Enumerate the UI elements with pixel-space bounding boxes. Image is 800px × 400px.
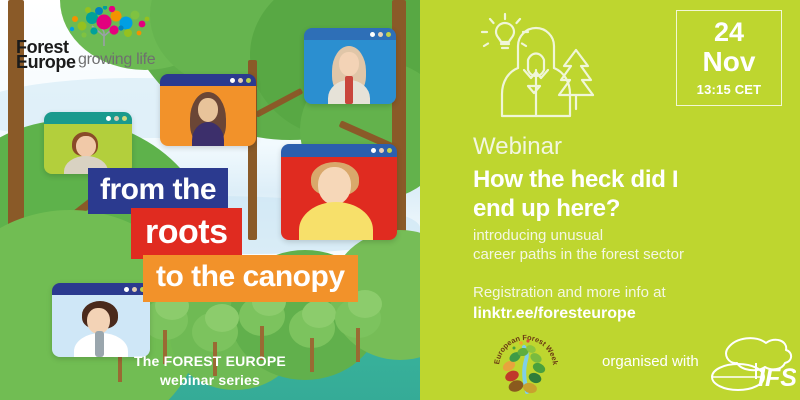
window-title-bar: [281, 144, 397, 157]
headline-text-2: roots: [131, 208, 242, 259]
window-title-bar: [160, 74, 256, 86]
video-feed: [160, 86, 256, 146]
logo-word-europe: Europe: [16, 52, 76, 73]
video-feed: [281, 157, 397, 240]
logo-tagline: growing life: [78, 51, 155, 69]
window-dot-3: [386, 32, 391, 37]
organised-with-label: organised with: [602, 353, 699, 370]
window-dot-2: [238, 78, 243, 83]
video-feed: [52, 295, 150, 357]
person-idea-tree-icon: [462, 8, 597, 128]
video-feed: [304, 40, 396, 104]
date-time: 13:15 CET: [697, 82, 762, 97]
webinar-poster: from the roots to the canopy The FOREST …: [0, 0, 800, 400]
webinar-subtitle: introducing unusual career paths in the …: [473, 226, 783, 264]
series-caption: The FOREST EUROPE webinar series: [0, 352, 420, 390]
video-window-blue[interactable]: [304, 28, 396, 104]
ifsa-logo: IFSA: [700, 330, 796, 394]
window-title-bar: [304, 28, 396, 40]
series-line-1: The FOREST EUROPE: [0, 352, 420, 371]
registration-link[interactable]: linktr.ee/foresteurope: [473, 303, 793, 325]
video-window-orange[interactable]: [160, 74, 256, 146]
registration-block: Registration and more info at linktr.ee/…: [473, 283, 793, 324]
date-badge: 24 Nov 13:15 CET: [676, 10, 782, 106]
headline-line-3: to the canopy: [143, 255, 358, 302]
window-dot-2: [132, 287, 137, 292]
date-month: Nov: [703, 46, 756, 78]
video-window-red[interactable]: [281, 144, 397, 240]
window-title-bar: [52, 283, 150, 295]
window-dot-1: [370, 32, 375, 37]
efw-tree-icon: European Forest Week: [494, 334, 564, 396]
avatar-scarf: [345, 76, 353, 104]
webinar-subtitle-line-2: career paths in the forest sector: [473, 245, 783, 264]
headline-text-3: to the canopy: [143, 255, 358, 302]
left-illustration-panel: from the roots to the canopy The FOREST …: [0, 0, 420, 400]
window-dot-2: [114, 116, 119, 121]
webinar-label: Webinar: [473, 134, 783, 160]
video-feed: [44, 124, 132, 174]
window-dot-2: [378, 32, 383, 37]
window-dot-1: [371, 148, 376, 153]
headline-line-2: roots: [131, 208, 242, 259]
avatar-face: [76, 136, 96, 157]
window-dot-2: [379, 148, 384, 153]
window-dot-3: [122, 116, 127, 121]
avatar-face: [318, 167, 351, 205]
window-dot-3: [387, 148, 392, 153]
ifsa-wordmark: IFSA: [758, 364, 796, 392]
registration-label: Registration and more info at: [473, 283, 793, 303]
window-dot-1: [124, 287, 129, 292]
avatar-face: [339, 52, 359, 76]
date-day: 24: [714, 19, 744, 46]
window-dot-1: [230, 78, 235, 83]
european-forest-week-logo: European Forest Week: [494, 334, 564, 396]
window-dot-1: [106, 116, 111, 121]
video-window-lightblue[interactable]: [52, 283, 150, 357]
forest-europe-logo: Forest Europe growing life: [12, 6, 172, 68]
avatar-face: [198, 98, 218, 122]
window-title-bar: [44, 112, 132, 124]
webinar-title-line-1: How the heck did I: [473, 166, 783, 194]
webinar-text-block: Webinar How the heck did I end up here? …: [473, 134, 783, 264]
series-line-2: webinar series: [0, 371, 420, 390]
webinar-title-line-2: end up here?: [473, 195, 783, 223]
webinar-subtitle-line-1: introducing unusual: [473, 226, 783, 245]
webinar-title: How the heck did I end up here?: [473, 166, 783, 223]
video-window-green[interactable]: [44, 112, 132, 174]
window-dot-3: [246, 78, 251, 83]
avatar-body: [299, 202, 373, 240]
